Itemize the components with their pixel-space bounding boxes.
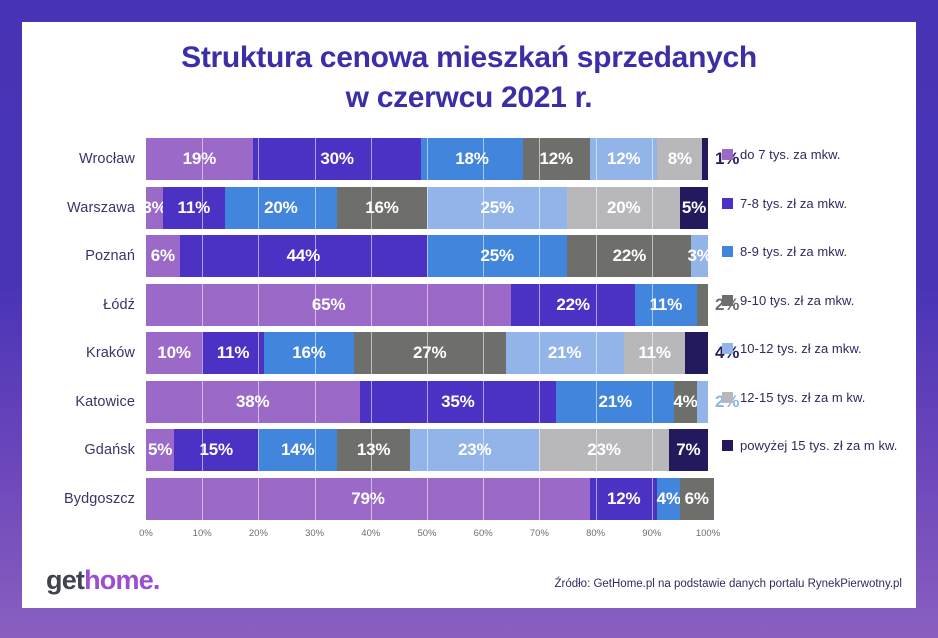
row-label: Bydgoszcz	[36, 491, 146, 507]
chart-row: Poznań6%44%25%22%3%	[36, 235, 708, 277]
bar-segment: 13%	[337, 429, 410, 471]
segment-value-label: 12%	[540, 149, 573, 169]
bar-segment: 6%	[146, 235, 180, 277]
axis-tick-label: 100%	[696, 528, 720, 539]
legend-item[interactable]: 8-9 tys. zł za mkw.	[722, 243, 907, 292]
footer: gethome. Źródło: GetHome.pl na podstawie…	[22, 554, 916, 598]
legend-label: 7-8 tys. zł za mkw.	[740, 195, 847, 214]
segment-value-label: 8%	[668, 149, 692, 169]
bar-segment: 79%	[146, 478, 590, 520]
segment-value-label: 6%	[685, 489, 709, 509]
row-label: Warszawa	[36, 200, 146, 216]
stacked-bar: 65%22%11%2%	[146, 284, 708, 326]
axis-tick-label: 40%	[361, 528, 380, 539]
bar-segment: 4%	[674, 381, 696, 423]
segment-value-label: 20%	[264, 198, 297, 218]
segment-value-label: 23%	[458, 440, 491, 460]
bar-segment: 4%	[657, 478, 679, 520]
segment-value-label: 25%	[481, 246, 514, 266]
segment-value-label: 11%	[178, 198, 211, 218]
bar-segment: 23%	[410, 429, 539, 471]
bar-segment: 11%	[202, 332, 264, 374]
stacked-bar: 38%35%21%4%2%	[146, 381, 708, 423]
segment-value-label: 23%	[587, 440, 620, 460]
axis-tick-label: 20%	[249, 528, 268, 539]
legend-swatch-icon	[722, 392, 733, 403]
bar-segment: 23%	[539, 429, 668, 471]
segment-value-label: 11%	[217, 343, 250, 363]
bar-segment: 12%	[590, 138, 657, 180]
segment-value-label: 16%	[292, 343, 325, 363]
segment-value-label: 16%	[365, 198, 398, 218]
bar-segment: 8%	[657, 138, 702, 180]
bar-segment: 44%	[180, 235, 427, 277]
legend-item[interactable]: 9-10 tys. zł za mkw.	[722, 292, 907, 341]
bar-segment: 20%	[567, 187, 679, 229]
segment-value-label: 14%	[281, 440, 314, 460]
legend-label: 10-12 tys. zł za mkw.	[740, 340, 862, 359]
segment-value-label: 18%	[455, 149, 488, 169]
legend-item[interactable]: do 7 tys. za mkw.	[722, 146, 907, 195]
chart-row: Bydgoszcz79%12%4%6%	[36, 478, 708, 520]
segment-value-label: 12%	[607, 489, 640, 509]
bar-segment: 35%	[360, 381, 557, 423]
stacked-bar: 6%44%25%22%3%	[146, 235, 708, 277]
stacked-bar: 5%15%14%13%23%23%7%	[146, 429, 708, 471]
segment-value-label: 5%	[148, 440, 172, 460]
bar-segment: 4%	[685, 332, 707, 374]
row-label: Gdańsk	[36, 442, 146, 458]
bar-segment: 15%	[174, 429, 258, 471]
bar-segment: 30%	[253, 138, 422, 180]
bar-segment: 27%	[354, 332, 506, 374]
bar-segment: 22%	[511, 284, 635, 326]
segment-value-label: 5%	[682, 198, 706, 218]
bar-segment: 22%	[567, 235, 691, 277]
chart-row: Gdańsk5%15%14%13%23%23%7%	[36, 429, 708, 471]
row-label: Katowice	[36, 394, 146, 410]
bar-segment: 38%	[146, 381, 360, 423]
legend-label: powyżej 15 tys. zł za m kw.	[740, 437, 897, 456]
axis-tick-label: 90%	[642, 528, 661, 539]
segment-value-label: 12%	[607, 149, 640, 169]
bar-segment: 7%	[669, 429, 708, 471]
source-note: Źródło: GetHome.pl na podstawie danych p…	[554, 578, 902, 590]
row-label: Poznań	[36, 248, 146, 264]
segment-value-label: 30%	[320, 149, 353, 169]
axis-tick-label: 0%	[139, 528, 153, 539]
chart-row: Łódź65%22%11%2%	[36, 284, 708, 326]
bar-segment: 5%	[146, 429, 174, 471]
segment-value-label: 4%	[673, 392, 697, 412]
bar-segment: 1%	[702, 138, 708, 180]
bar-segment: 11%	[624, 332, 686, 374]
axis-tick-label: 70%	[530, 528, 549, 539]
legend-swatch-icon	[722, 295, 733, 306]
bar-segment: 16%	[264, 332, 354, 374]
row-label: Wrocław	[36, 151, 146, 167]
logo-get-text: get	[46, 565, 84, 595]
page-title: Struktura cenowa mieszkań sprzedanych w …	[22, 22, 916, 117]
legend-swatch-icon	[722, 440, 733, 451]
bar-segment: 6%	[680, 478, 714, 520]
legend-swatch-icon	[722, 343, 733, 354]
legend-swatch-icon	[722, 198, 733, 209]
axis-tick-label: 30%	[305, 528, 324, 539]
segment-value-label: 19%	[183, 149, 216, 169]
legend-swatch-icon	[722, 246, 733, 257]
row-label: Kraków	[36, 345, 146, 361]
chart-row: Wrocław19%30%18%12%12%8%1%	[36, 138, 708, 180]
segment-value-label: 25%	[481, 198, 514, 218]
legend-label: do 7 tys. za mkw.	[740, 146, 841, 165]
segment-value-label: 44%	[287, 246, 320, 266]
chart-rows: Wrocław19%30%18%12%12%8%1%Warszawa3%11%2…	[36, 138, 708, 520]
segment-value-label: 22%	[556, 295, 589, 315]
legend-swatch-icon	[722, 149, 733, 160]
infographic-frame: Struktura cenowa mieszkań sprzedanych w …	[0, 0, 938, 638]
axis-tick-label: 50%	[417, 528, 436, 539]
stacked-bar: 10%11%16%27%21%11%4%	[146, 332, 708, 374]
chart-row: Katowice38%35%21%4%2%	[36, 381, 708, 423]
segment-value-label: 65%	[312, 295, 345, 315]
axis-tick-label: 10%	[193, 528, 212, 539]
segment-value-label: 7%	[676, 440, 700, 460]
chart-area: Wrocław19%30%18%12%12%8%1%Warszawa3%11%2…	[22, 138, 916, 550]
bar-segment: 14%	[258, 429, 337, 471]
stacked-bar-chart: Wrocław19%30%18%12%12%8%1%Warszawa3%11%2…	[36, 138, 708, 550]
bar-segment: 12%	[523, 138, 590, 180]
legend-label: 8-9 tys. zł za mkw.	[740, 243, 847, 262]
legend-item[interactable]: 10-12 tys. zł za mkw.	[722, 340, 907, 389]
segment-value-label: 4%	[657, 489, 681, 509]
segment-value-label: 21%	[599, 392, 632, 412]
bar-segment: 10%	[146, 332, 202, 374]
stacked-bar: 79%12%4%6%	[146, 478, 708, 520]
segment-value-label: 13%	[357, 440, 390, 460]
bar-segment: 3%	[691, 235, 708, 277]
stacked-bar: 3%11%20%16%25%20%5%	[146, 187, 708, 229]
bar-segment: 25%	[427, 235, 568, 277]
bar-segment: 18%	[421, 138, 522, 180]
segment-value-label: 3%	[687, 246, 711, 266]
segment-value-label: 27%	[413, 343, 446, 363]
segment-value-label: 20%	[607, 198, 640, 218]
chart-row: Kraków10%11%16%27%21%11%4%	[36, 332, 708, 374]
segment-value-label: 11%	[650, 295, 683, 315]
legend-item[interactable]: 7-8 tys. zł za mkw.	[722, 195, 907, 244]
bar-segment: 11%	[635, 284, 697, 326]
stacked-bar: 19%30%18%12%12%8%1%	[146, 138, 708, 180]
segment-value-label: 38%	[236, 392, 269, 412]
bar-segment: 19%	[146, 138, 253, 180]
x-axis: 0%10%20%30%40%50%60%70%80%90%100%	[146, 528, 708, 548]
bar-segment: 65%	[146, 284, 511, 326]
chart-row: Warszawa3%11%20%16%25%20%5%	[36, 187, 708, 229]
logo-home-text: home.	[84, 565, 160, 595]
bar-segment: 2%	[697, 381, 708, 423]
gethome-logo: gethome.	[46, 565, 160, 596]
bar-segment: 3%	[146, 187, 163, 229]
legend-label: 9-10 tys. zł za mkw.	[740, 292, 854, 311]
chart-legend: do 7 tys. za mkw.7-8 tys. zł za mkw.8-9 …	[722, 146, 907, 493]
segment-value-label: 15%	[200, 440, 233, 460]
bar-segment: 5%	[680, 187, 708, 229]
infographic-card: Struktura cenowa mieszkań sprzedanych w …	[22, 22, 916, 608]
segment-value-label: 35%	[441, 392, 474, 412]
bar-segment: 21%	[506, 332, 624, 374]
axis-tick-label: 80%	[586, 528, 605, 539]
row-label: Łódź	[36, 297, 146, 313]
segment-value-label: 21%	[548, 343, 581, 363]
bar-segment: 21%	[556, 381, 674, 423]
bar-segment: 16%	[337, 187, 427, 229]
segment-value-label: 22%	[613, 246, 646, 266]
bar-segment: 20%	[225, 187, 337, 229]
segment-value-label: 79%	[351, 489, 384, 509]
axis-tick-label: 60%	[474, 528, 493, 539]
bar-segment: 25%	[427, 187, 568, 229]
legend-item[interactable]: powyżej 15 tys. zł za m kw.	[722, 437, 907, 493]
segment-value-label: 10%	[157, 343, 190, 363]
legend-item[interactable]: 12-15 tys. zł za m kw.	[722, 389, 907, 438]
bar-segment: 11%	[163, 187, 225, 229]
segment-value-label: 11%	[638, 343, 671, 363]
legend-label: 12-15 tys. zł za m kw.	[740, 389, 865, 408]
bar-segment: 12%	[590, 478, 657, 520]
bar-segment: 2%	[697, 284, 708, 326]
segment-value-label: 6%	[151, 246, 175, 266]
